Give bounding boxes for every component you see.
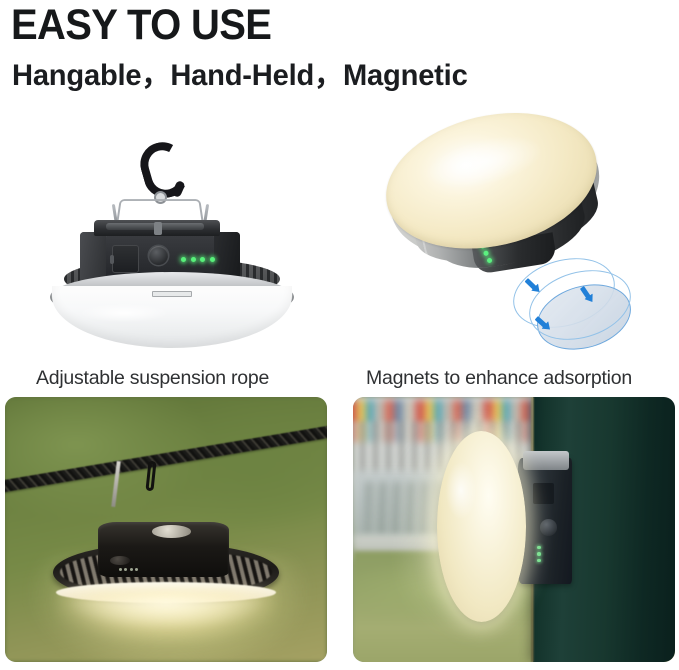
led-indicator	[181, 257, 186, 262]
led-indicator	[537, 559, 541, 563]
magnetic-lamp-render	[378, 108, 679, 360]
led-indicator	[135, 568, 138, 571]
battery-level-leds	[181, 257, 215, 262]
led-indicator	[124, 568, 127, 571]
hanging-lamp-render	[28, 128, 318, 350]
photo-lamp-hanging-on-rope	[5, 397, 327, 662]
housing-top-cap	[523, 451, 569, 470]
housing-top-notch	[154, 222, 162, 235]
product-infographic: EASY TO USE Hangable，Hand-Held，Magnetic	[0, 0, 679, 670]
caption-adjustable-suspension-rope: Adjustable suspension rope	[36, 367, 269, 389]
battery-level-leds	[119, 568, 139, 571]
lamp-housing-left-face	[80, 232, 106, 282]
warm-light-core	[71, 596, 260, 628]
lamp-on-rope	[53, 522, 278, 617]
led-indicator	[210, 257, 215, 262]
led-indicator	[537, 552, 541, 556]
disc-highlight	[446, 462, 476, 519]
led-indicator	[191, 257, 196, 262]
page-subtitle: Hangable，Hand-Held，Magnetic	[12, 59, 468, 93]
led-indicator	[537, 546, 541, 550]
magnetic-field-diagram	[506, 256, 641, 360]
glowing-lamp-disc	[437, 431, 526, 622]
ring-label	[152, 291, 192, 297]
caption-magnets-to-enhance-adsorption: Magnets to enhance adsorption	[366, 367, 632, 389]
lamp-on-post	[437, 431, 572, 622]
page-title: EASY TO USE	[11, 2, 271, 48]
usb-port-cover	[533, 483, 555, 504]
led-indicator	[200, 257, 205, 262]
battery-level-leds	[537, 546, 541, 563]
photo-lamp-magnetized-to-post	[353, 397, 675, 662]
led-indicator	[119, 568, 122, 571]
diffuser-gloss	[420, 126, 547, 198]
usb-port-cover	[112, 245, 139, 273]
power-button	[149, 246, 168, 265]
led-indicator	[130, 568, 133, 571]
warm-glowing-diffuser	[373, 93, 611, 268]
diffuser-highlight	[80, 304, 168, 322]
rope-anchor-cap	[152, 525, 190, 537]
